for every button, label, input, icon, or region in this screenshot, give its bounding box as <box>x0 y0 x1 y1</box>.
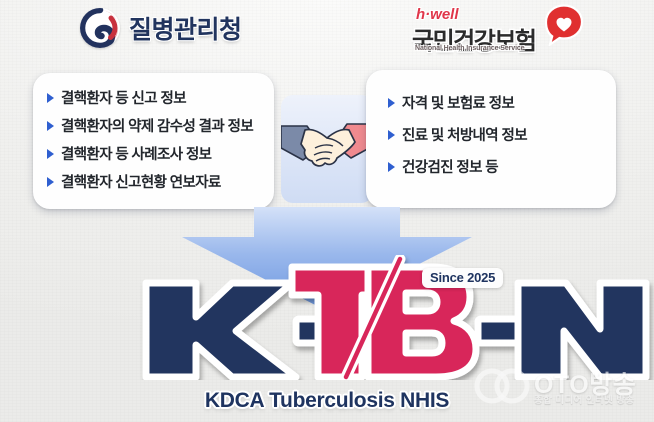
watermark-tagline: 종합 미디어 인터넷 방송 <box>534 392 635 406</box>
taegeuk-swirl-icon <box>80 8 120 48</box>
list-item: 자격 및 보험료 정보 <box>388 92 616 113</box>
letter-hyphen-2 <box>478 319 520 343</box>
triangle-bullet-icon <box>388 130 395 140</box>
nhis-logo: h·well 국민건강보험 National Health Insurance … <box>408 4 583 60</box>
triangle-bullet-icon <box>47 121 54 131</box>
list-item-label: 결핵환자 등 신고 정보 <box>61 87 186 108</box>
letter-K <box>146 283 296 377</box>
since-badge: Since 2025 <box>422 268 503 288</box>
triangle-bullet-icon <box>47 177 54 187</box>
list-item-label: 결핵환자 신고현황 연보자료 <box>61 171 221 192</box>
kdca-data-card: 결핵환자 등 신고 정보 결핵환자의 약제 감수성 결과 정보 결핵환자 등 사… <box>33 73 274 209</box>
kdca-bullet-list: 결핵환자 등 신고 정보 결핵환자의 약제 감수성 결과 정보 결핵환자 등 사… <box>33 73 274 192</box>
kdca-logo-name: 질병관리청 <box>129 10 242 46</box>
handshake-icon <box>281 108 373 188</box>
triangle-bullet-icon <box>47 93 54 103</box>
oto-watermark: OTO방송 종합 미디어 인터넷 방송 <box>472 362 650 412</box>
list-item: 진료 및 처방내역 정보 <box>388 124 616 145</box>
infographic-canvas: 질병관리청 h·well 국민건강보험 National Health Insu… <box>0 0 654 422</box>
list-item-label: 결핵환자 등 사례조사 정보 <box>61 143 211 164</box>
list-item: 결핵환자 신고현황 연보자료 <box>47 171 274 192</box>
heart-speech-bubble-icon <box>543 4 585 46</box>
list-item: 결핵환자 등 신고 정보 <box>47 87 274 108</box>
list-item: 결핵환자 등 사례조사 정보 <box>47 143 274 164</box>
list-item-label: 결핵환자의 약제 감수성 결과 정보 <box>61 115 253 136</box>
list-item-label: 건강검진 정보 등 <box>402 156 498 177</box>
nhis-name-en: National Health Insurance Service <box>415 45 525 52</box>
nhis-data-card: 자격 및 보험료 정보 진료 및 처방내역 정보 건강검진 정보 등 <box>366 70 616 208</box>
nhis-bullet-list: 자격 및 보험료 정보 진료 및 처방내역 정보 건강검진 정보 등 <box>366 70 616 177</box>
list-item-label: 자격 및 보험료 정보 <box>402 92 514 113</box>
list-item: 건강검진 정보 등 <box>388 156 616 177</box>
triangle-bullet-icon <box>388 162 395 172</box>
list-item: 결핵환자의 약제 감수성 결과 정보 <box>47 115 274 136</box>
kdca-logo: 질병관리청 <box>80 8 242 48</box>
triangle-bullet-icon <box>47 149 54 159</box>
list-item-label: 진료 및 처방내역 정보 <box>402 124 527 145</box>
triangle-bullet-icon <box>388 98 395 108</box>
